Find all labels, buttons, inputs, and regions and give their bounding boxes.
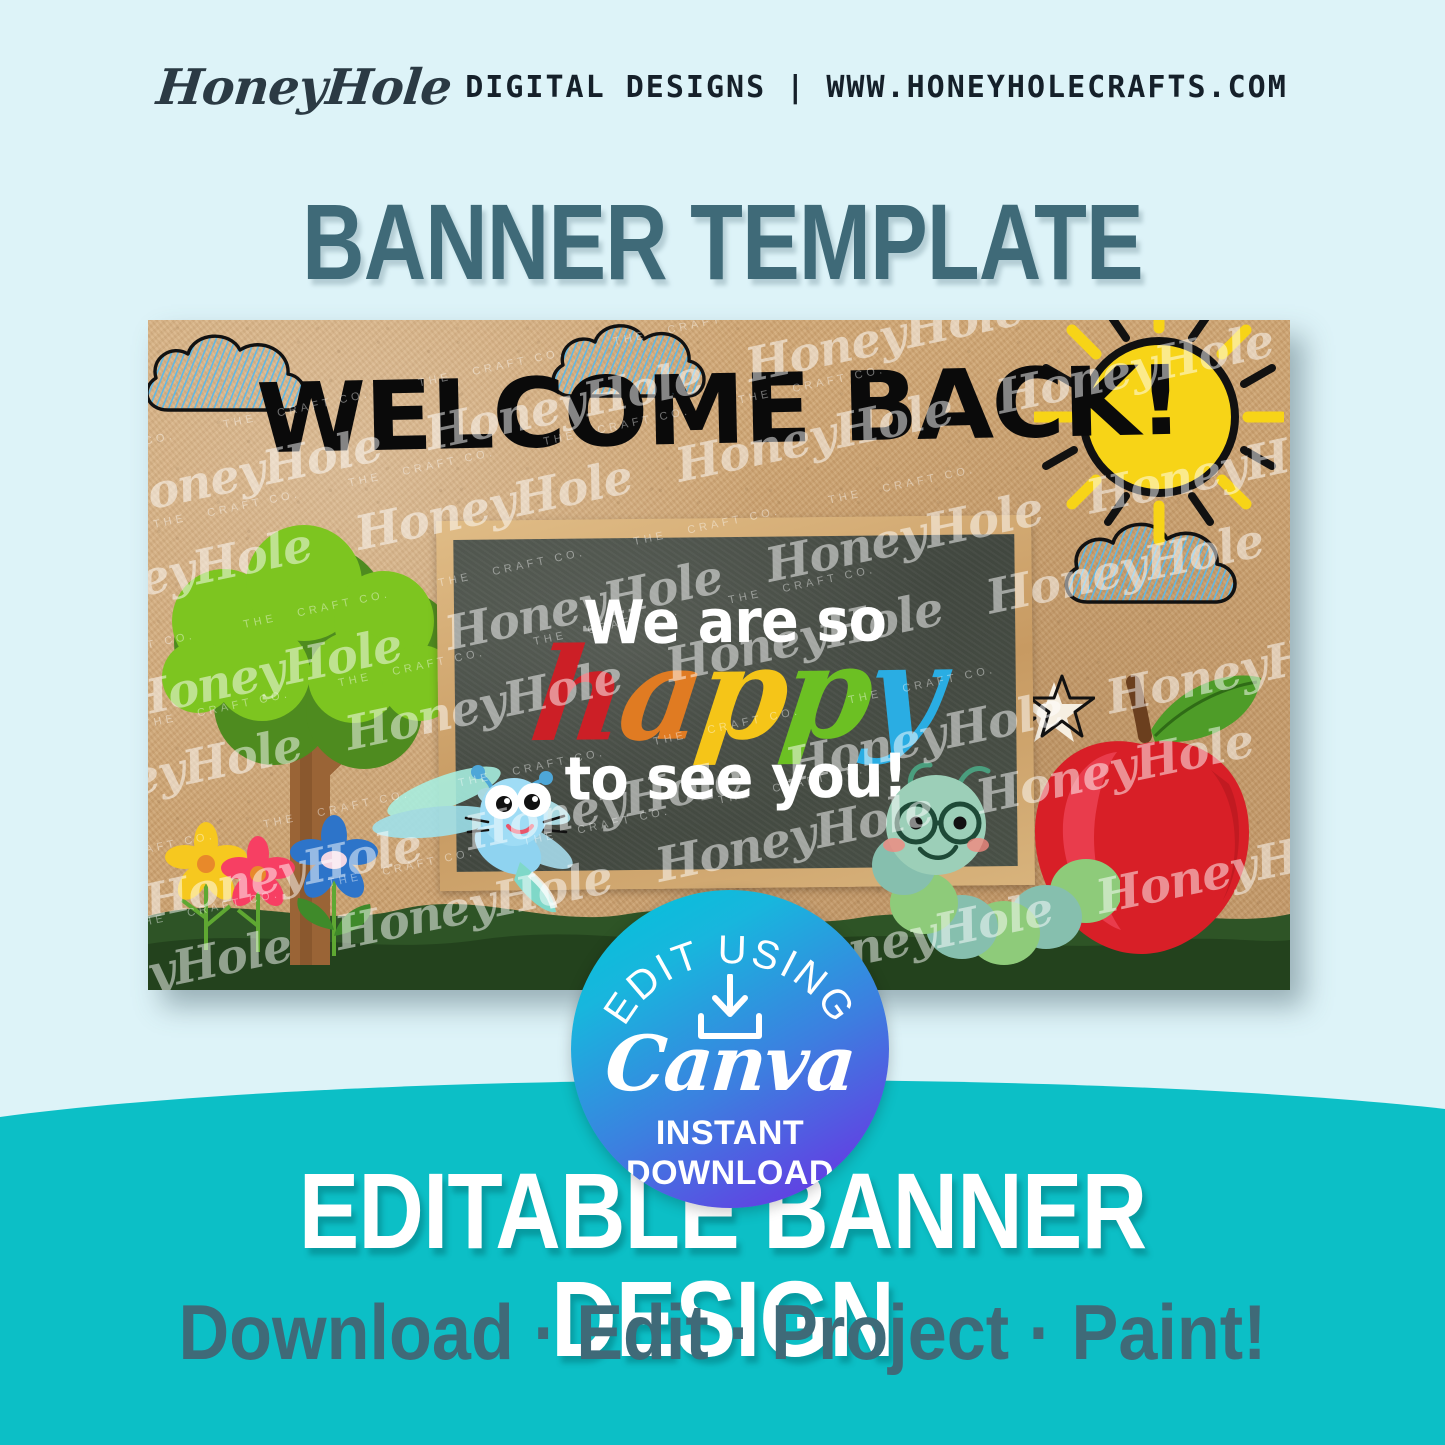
brand-logo-script: HoneyHole (154, 58, 454, 116)
canva-instant-label: INSTANT (571, 1116, 889, 1150)
banner-headline: WELCOME BACK! (148, 350, 1290, 470)
brand-tagline-url: DIGITAL DESIGNS | WWW.HONEYHOLECRAFTS.CO… (465, 70, 1288, 105)
canva-download-label: DOWNLOAD (571, 1156, 889, 1190)
page-title: BANNER TEMPLATE (145, 188, 1301, 296)
dragonfly-illustration (348, 750, 578, 930)
site-header: HoneyHole DIGITAL DESIGNS | WWW.HONEYHOL… (0, 52, 1445, 122)
caterpillar-illustration (850, 741, 1120, 976)
canva-wordmark: Canva (571, 1026, 889, 1102)
canva-badge[interactable]: EDIT USING Canva INSTANT DOWNLOAD (571, 890, 889, 1208)
chalk-highlight-word: happy (526, 634, 946, 756)
footer-subtitle: Download · Edit · Project · Paint! (72, 1293, 1373, 1371)
